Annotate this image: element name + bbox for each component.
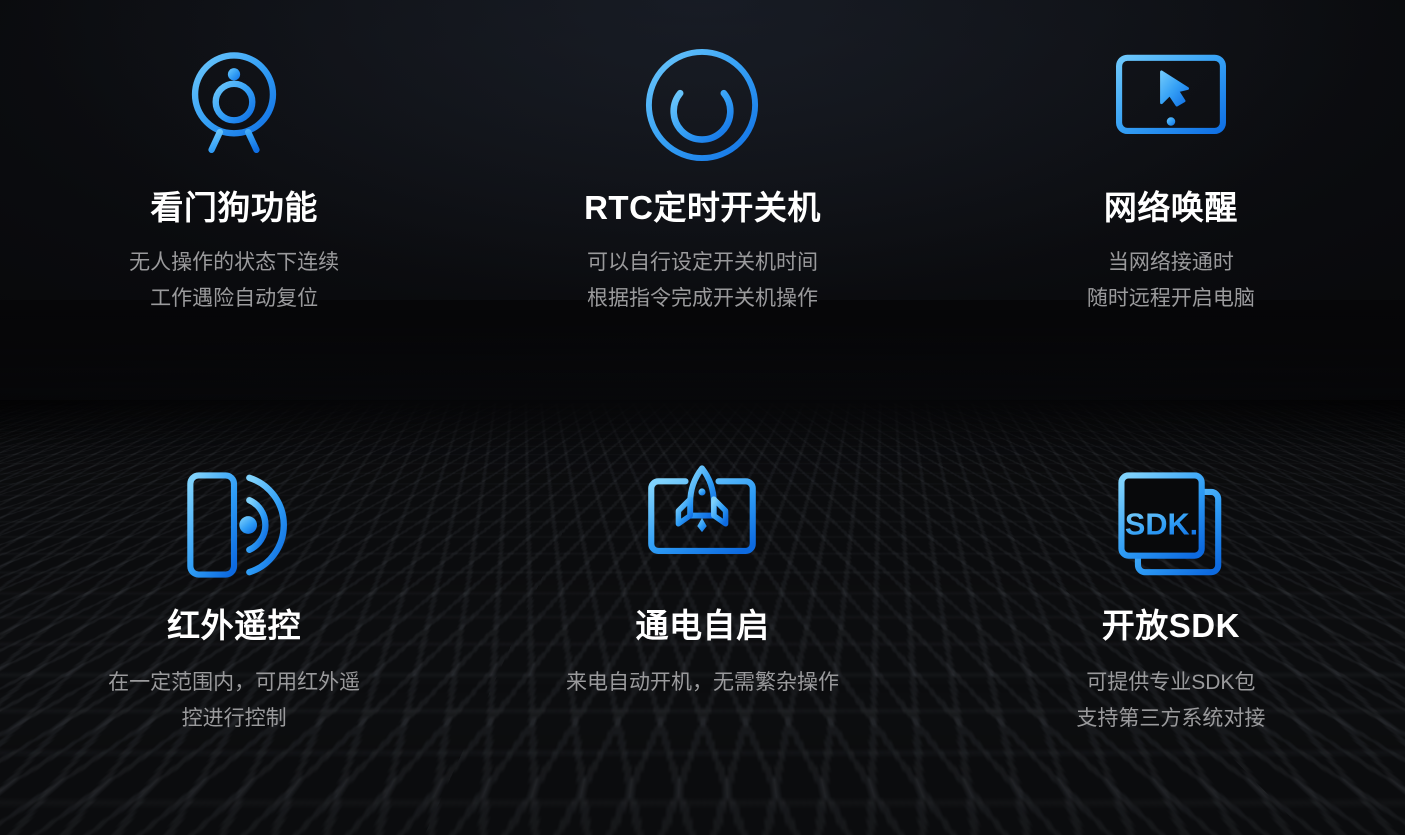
feature-description-line: 工作遇险自动复位: [129, 281, 339, 317]
sdk-windows-icon: SDK.: [1108, 462, 1233, 587]
monitor-rocket-icon: [640, 462, 765, 587]
feature-description-line: 支持第三方系统对接: [1076, 701, 1265, 737]
feature-card-ir-remote: 红外遥控 在一定范围内，可用红外遥 控进行控制: [0, 420, 468, 835]
feature-card-watchdog: 看门狗功能 无人操作的状态下连续 工作遇险自动复位: [0, 0, 468, 420]
feature-description-line: 随时远程开启电脑: [1087, 281, 1255, 317]
feature-description-line: 可以自行设定开关机时间: [587, 245, 818, 281]
feature-description: 无人操作的状态下连续 工作遇险自动复位: [129, 245, 339, 317]
feature-title: 看门狗功能: [150, 189, 318, 227]
feature-description-line: 控进行控制: [108, 701, 360, 737]
feature-description-line: 根据指令完成开关机操作: [587, 281, 818, 317]
feature-title: 红外遥控: [167, 607, 301, 645]
feature-description: 可以自行设定开关机时间 根据指令完成开关机操作: [587, 245, 818, 317]
feature-card-wake-on-lan: 网络唤醒 当网络接通时 随时远程开启电脑: [937, 0, 1405, 420]
webcam-icon: [172, 42, 297, 167]
monitor-cursor-icon: [1108, 42, 1233, 167]
feature-card-auto-power-on: 通电自启 来电自动开机，无需繁杂操作: [468, 420, 936, 835]
feature-card-open-sdk: SDK. 开放SDK 可提供专业SDK包 支持第三方系统对接: [937, 420, 1405, 835]
feature-title: 通电自启: [635, 607, 769, 645]
feature-title: 网络唤醒: [1104, 189, 1238, 227]
feature-description: 在一定范围内，可用红外遥 控进行控制: [108, 665, 360, 737]
feature-showcase-page: 看门狗功能 无人操作的状态下连续 工作遇险自动复位 RTC定时开关机 可以自行设…: [0, 0, 1405, 835]
feature-description-line: 当网络接通时: [1087, 245, 1255, 281]
remote-signal-icon: [172, 462, 297, 587]
feature-title: RTC定时开关机: [584, 189, 821, 227]
feature-description: 当网络接通时 随时远程开启电脑: [1087, 245, 1255, 317]
feature-description-line: 可提供专业SDK包: [1076, 665, 1265, 701]
sdk-icon-label: SDK.: [1125, 507, 1198, 541]
feature-description-line: 在一定范围内，可用红外遥: [108, 665, 360, 701]
feature-grid: 看门狗功能 无人操作的状态下连续 工作遇险自动复位 RTC定时开关机 可以自行设…: [0, 0, 1405, 835]
feature-description: 来电自动开机，无需繁杂操作: [566, 665, 839, 701]
feature-title: 开放SDK: [1102, 607, 1240, 645]
feature-description: 可提供专业SDK包 支持第三方系统对接: [1076, 665, 1265, 737]
power-button-icon: [640, 42, 765, 167]
feature-description-line: 来电自动开机，无需繁杂操作: [566, 665, 839, 701]
feature-card-rtc-power: RTC定时开关机 可以自行设定开关机时间 根据指令完成开关机操作: [468, 0, 936, 420]
feature-description-line: 无人操作的状态下连续: [129, 245, 339, 281]
